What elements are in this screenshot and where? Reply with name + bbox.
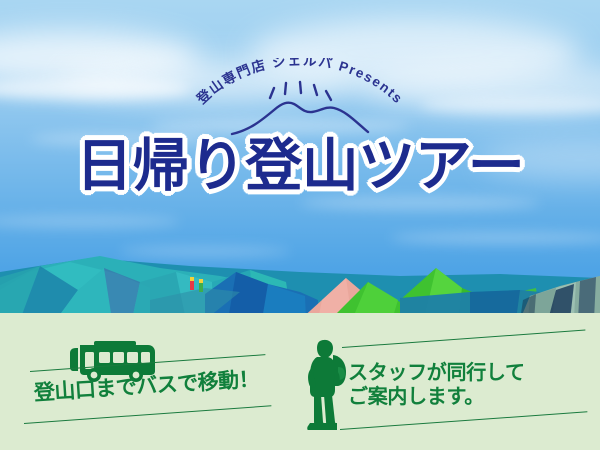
features-panel: 登山口までバスで移動！ xyxy=(0,313,600,450)
feature-staff-label-line1: スタッフが同行して xyxy=(348,361,525,385)
page-title: 日帰り登山ツアー xyxy=(76,138,525,195)
bus-rule-bottom xyxy=(24,405,271,424)
staff-rule-top xyxy=(342,330,585,348)
staff-rule-bottom xyxy=(340,411,587,430)
headline-container: 日帰り登山ツアー xyxy=(0,138,600,195)
tour-promo-banner: 登山専門店 シェルパ Presents 日帰り登山ツアー xyxy=(0,0,600,450)
feature-staff-label: スタッフが同行して ご案内します。 xyxy=(348,361,525,408)
feature-bus-transfer: 登山口までバスで移動！ xyxy=(24,319,296,444)
feature-staff-label-line2: ご案内します。 xyxy=(348,385,525,409)
feature-staff-guide: スタッフが同行して ご案内します。 xyxy=(296,319,586,444)
mountain-sun-line-icon xyxy=(232,82,368,134)
